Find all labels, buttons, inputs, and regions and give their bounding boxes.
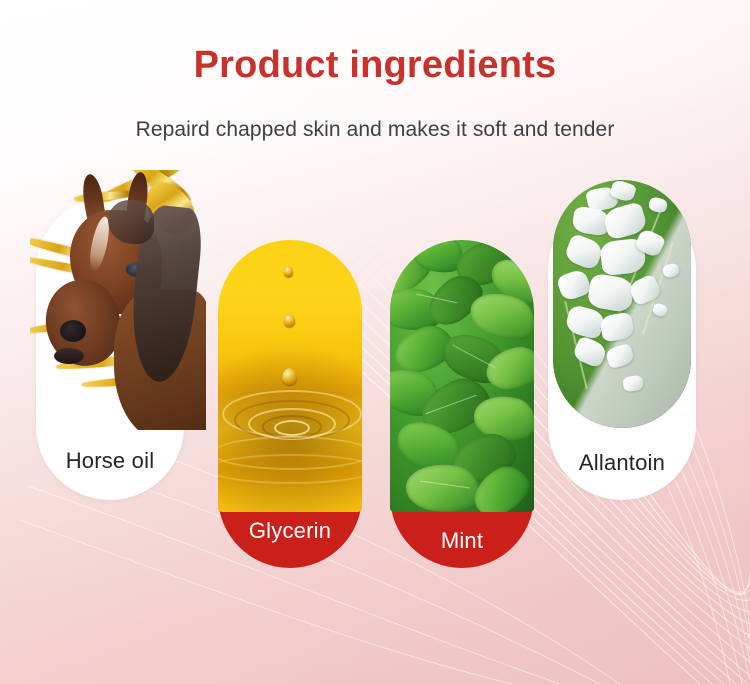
allantoin-crystals-icon	[553, 180, 691, 428]
ingredient-label-mint: Mint	[390, 528, 534, 554]
product-ingredients-banner: Product ingredients Repaird chapped skin…	[0, 0, 750, 684]
ingredient-capsule-row: Horse oil Glycerin	[0, 0, 750, 684]
oil-droplet-icon	[284, 314, 295, 327]
mint-leaves-icon	[390, 240, 534, 512]
oil-droplet-icon	[284, 266, 293, 277]
ingredient-label-allantoin: Allantoin	[548, 450, 696, 476]
ingredient-label-horse-oil: Horse oil	[36, 448, 184, 474]
horse-oil-image	[30, 170, 206, 430]
mint-image	[390, 240, 534, 512]
oil-droplet-icon	[282, 368, 297, 385]
allantoin-image	[553, 180, 691, 428]
glycerin-image	[218, 240, 362, 512]
horse-head-icon	[30, 170, 206, 430]
ingredient-label-glycerin: Glycerin	[218, 518, 362, 544]
